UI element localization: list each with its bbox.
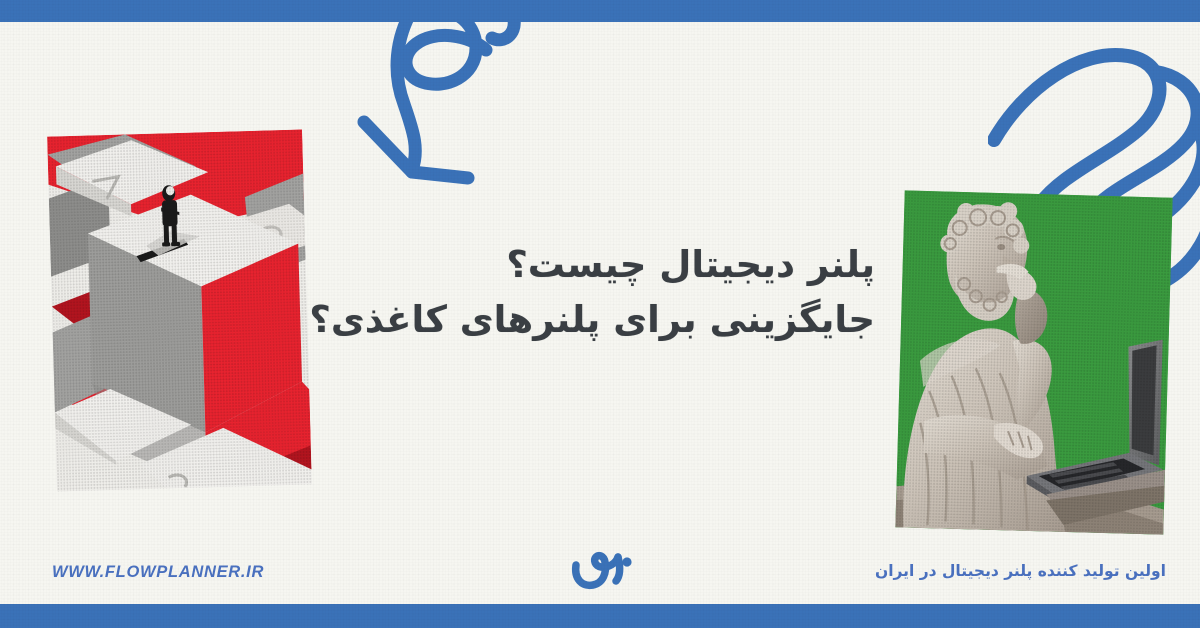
headline-line-2: جایگزینی برای پلنر‌های کاغذی؟ [315, 293, 875, 348]
social-banner: پلنر دیجیتال چیست؟ جایگزینی برای پلنر‌ها… [0, 0, 1200, 628]
top-accent-bar [0, 0, 1200, 22]
page-title: پلنر دیجیتال چیست؟ جایگزینی برای پلنر‌ها… [315, 238, 875, 348]
keyboard-keys-illustration [47, 130, 312, 492]
scribble-arrow-down-left-icon [300, 0, 560, 204]
headline-line-1: پلنر دیجیتال چیست؟ [315, 238, 875, 293]
website-url[interactable]: WWW.FLOWPLANNER.IR [52, 563, 264, 582]
flowplanner-logo[interactable] [563, 549, 637, 593]
statue-with-laptop-photo [895, 190, 1172, 534]
tagline: اولین تولید کننده پلنر دیجیتال در ایران [875, 562, 1166, 580]
bottom-accent-bar [0, 604, 1200, 628]
